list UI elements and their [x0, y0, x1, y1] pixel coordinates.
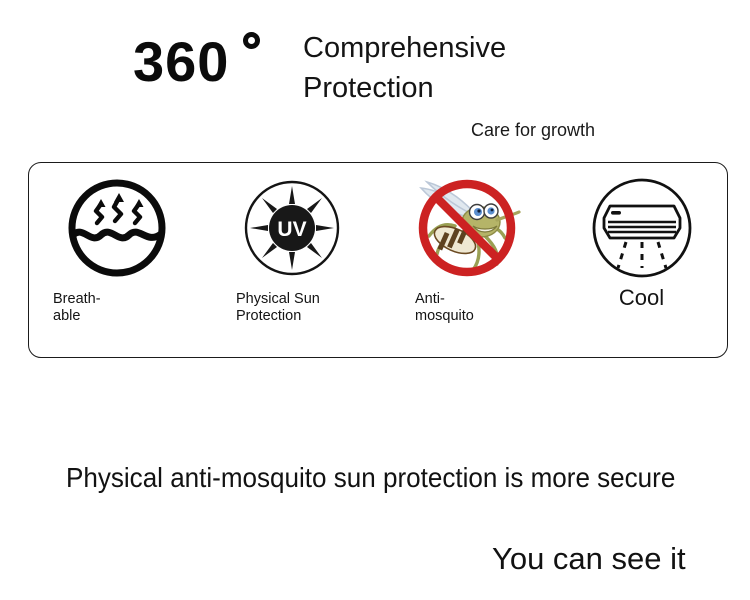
feature-card: Breath- able	[28, 162, 728, 358]
feature-grid: Breath- able	[29, 163, 727, 357]
feature-item-anti-mosquito[interactable]: Anti- mosquito	[379, 163, 554, 357]
care-for-growth-text: Care for growth	[471, 120, 595, 141]
feature-item-sun-protection[interactable]: UV Physical Sun Protection	[204, 163, 379, 357]
tagline-text: Physical anti-mosquito sun protection is…	[66, 462, 675, 494]
anti-mosquito-prohibition-icon	[379, 173, 554, 283]
hero-title: Comprehensive Protection	[303, 28, 633, 108]
feature-label-sun-protection: Physical Sun Protection	[236, 291, 320, 325]
degree-symbol-icon	[243, 32, 260, 49]
feature-item-breathable[interactable]: Breath- able	[29, 163, 204, 357]
feature-item-cool[interactable]: Cool	[554, 163, 729, 357]
hero-360-number: 360	[133, 34, 229, 90]
feature-label-cool: Cool	[554, 285, 729, 311]
feature-label-breathable: Breath- able	[53, 291, 101, 325]
uv-sun-icon: UV	[204, 173, 379, 283]
breathable-circle-icon	[29, 173, 204, 283]
air-conditioner-cool-icon	[554, 173, 729, 283]
uv-icon-text: UV	[277, 218, 306, 241]
header: 360 Comprehensive Protection Care for gr…	[0, 0, 750, 150]
subline-text: You can see it	[492, 541, 686, 577]
feature-label-anti-mosquito: Anti- mosquito	[415, 291, 474, 325]
